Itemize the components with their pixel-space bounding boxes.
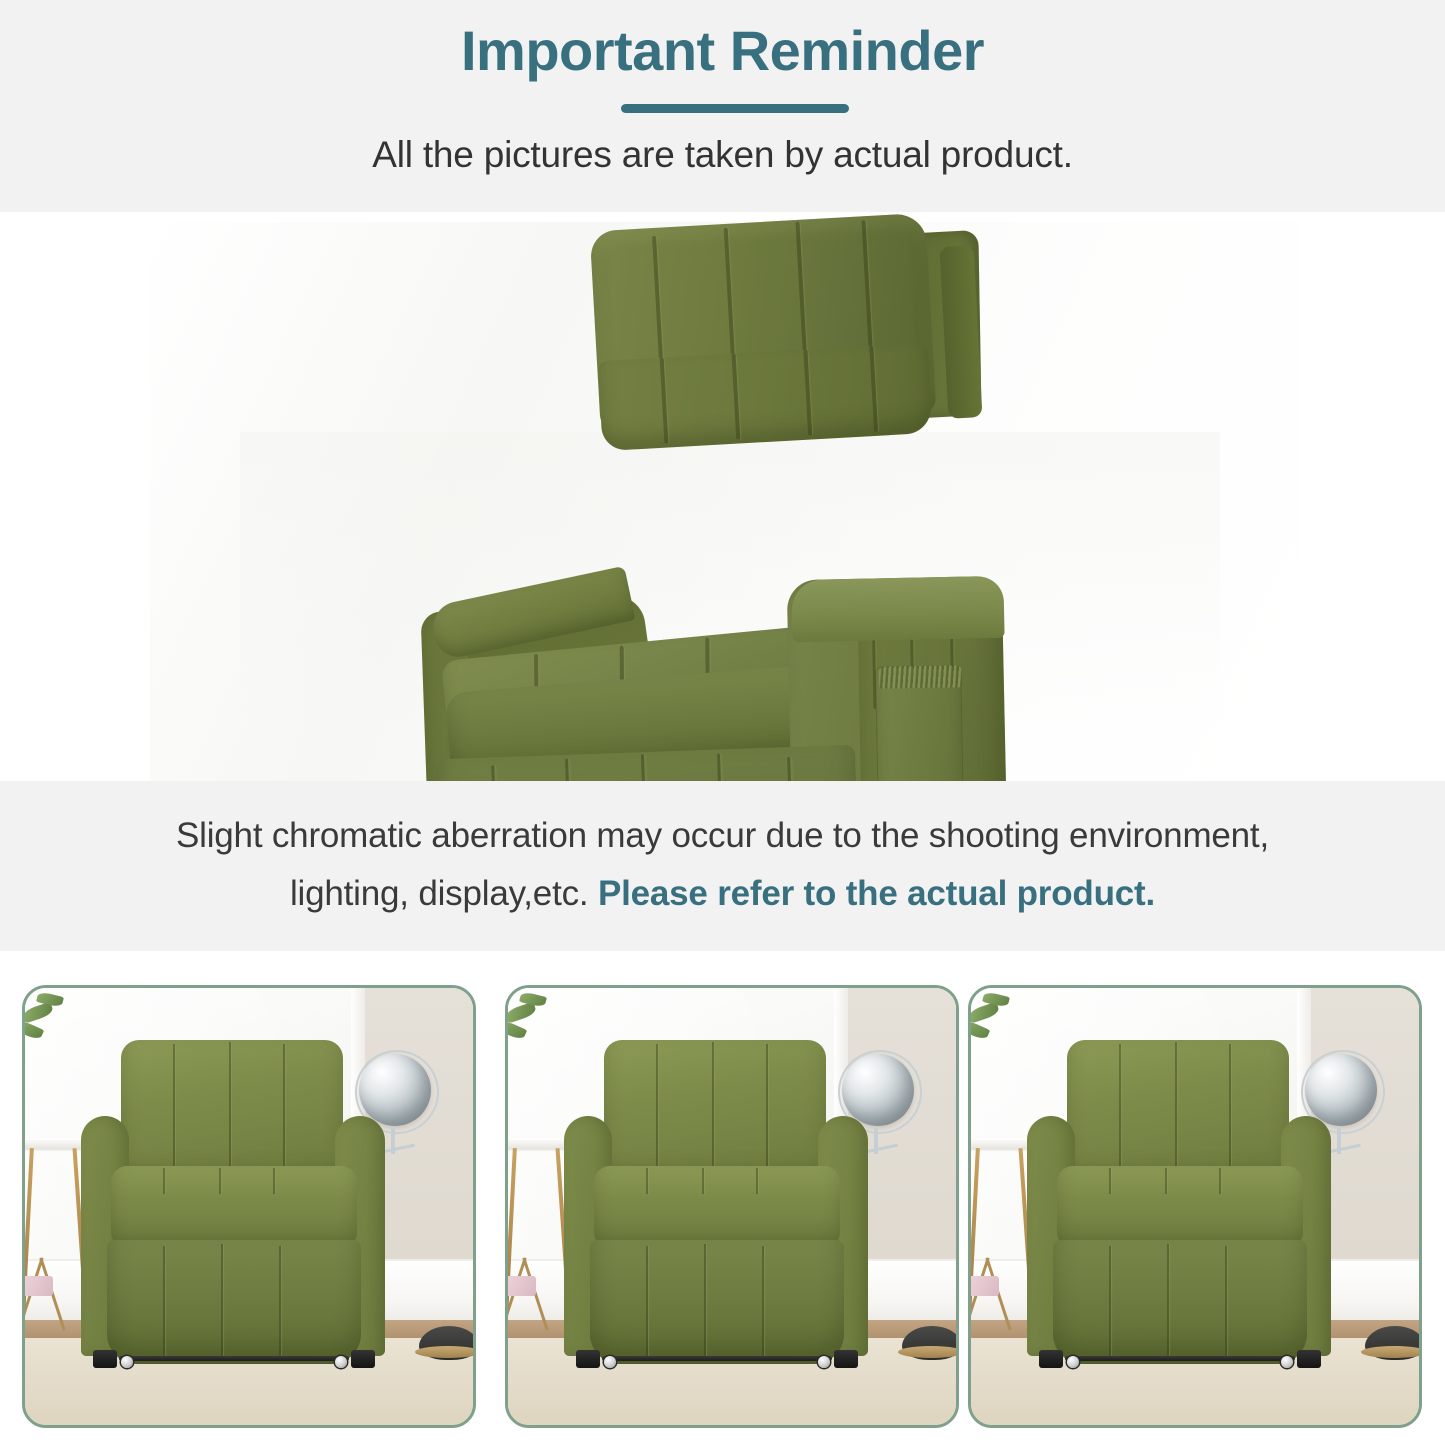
- thumb-backrest: [121, 1040, 343, 1180]
- page-subtitle: All the pictures are taken by actual pro…: [0, 134, 1445, 176]
- thumb-base-skirt: [1053, 1240, 1307, 1364]
- magazine-rack-item: [968, 1276, 999, 1296]
- thumb-caster: [335, 1356, 347, 1368]
- stool-rim: [898, 1346, 959, 1358]
- base-channel-seam: [491, 765, 500, 781]
- chair-right-arm-top: [791, 576, 1004, 642]
- base-channel-seam: [787, 757, 795, 781]
- thumbnail-1[interactable]: [22, 985, 476, 1428]
- title-divider: [621, 104, 849, 113]
- plant-decor: [505, 990, 584, 1060]
- backrest-seam: [660, 358, 669, 444]
- thumb-foot-right: [834, 1350, 858, 1368]
- thumb-seat-cushion: [1057, 1166, 1303, 1250]
- thumb-base-skirt: [590, 1240, 844, 1364]
- magazine-rack-item: [505, 1276, 536, 1296]
- thumb-seat-cushion: [594, 1166, 840, 1250]
- room-scene: [25, 988, 473, 1425]
- thumb-caster: [121, 1356, 133, 1368]
- thumb-foot-left: [1039, 1350, 1063, 1368]
- backrest-seam: [869, 346, 878, 432]
- room-scene: [508, 988, 956, 1425]
- chair-backrest-lower: [598, 343, 933, 451]
- thumb-caster: [1281, 1356, 1293, 1368]
- thumbnail-row: [0, 985, 1445, 1425]
- thumb-caster: [818, 1356, 830, 1368]
- backrest-seam: [803, 350, 812, 436]
- magazine-rack-item: [22, 1276, 53, 1296]
- thumb-foot-left: [576, 1350, 600, 1368]
- disclaimer-line-2-plain: lighting, display,etc.: [290, 874, 598, 913]
- disclaimer-line-2-accent: Please refer to the actual product.: [598, 874, 1155, 913]
- thumb-backrest: [1067, 1040, 1289, 1180]
- thumbnail-3[interactable]: [968, 985, 1422, 1428]
- thumb-frame-bar: [1065, 1356, 1295, 1361]
- stool-rim: [415, 1346, 476, 1358]
- plant-decor: [968, 990, 1047, 1060]
- header-band: Important Reminder All the pictures are …: [0, 0, 1445, 212]
- thumb-foot-right: [1297, 1350, 1321, 1368]
- thumb-backrest: [604, 1040, 826, 1180]
- base-channel-seam: [641, 754, 650, 781]
- disclaimer-band: Slight chromatic aberration may occur du…: [0, 781, 1445, 951]
- thumb-seat-cushion: [111, 1166, 357, 1250]
- thumb-foot-left: [93, 1350, 117, 1368]
- thumb-base-skirt: [107, 1240, 361, 1364]
- disclaimer-line-1: Slight chromatic aberration may occur du…: [176, 816, 1269, 855]
- page-title: Important Reminder: [0, 18, 1445, 83]
- base-channel-seam: [717, 753, 726, 781]
- stool-rim: [1361, 1346, 1422, 1358]
- thumb-frame-bar: [119, 1356, 349, 1361]
- backrest-seam: [732, 354, 741, 440]
- base-channel-seam: [565, 759, 574, 781]
- thumb-caster: [604, 1356, 616, 1368]
- thumb-caster: [1067, 1356, 1079, 1368]
- plant-decor: [22, 990, 101, 1060]
- thumbnail-2[interactable]: [505, 985, 959, 1428]
- room-scene: [971, 988, 1419, 1425]
- promo-image-root: Important Reminder All the pictures are …: [0, 0, 1445, 1445]
- thumb-frame-bar: [602, 1356, 832, 1361]
- product-armchair: [0, 212, 1445, 781]
- pocket-elastic-band: [879, 665, 962, 688]
- thumb-foot-right: [351, 1350, 375, 1368]
- disclaimer-text: Slight chromatic aberration may occur du…: [50, 807, 1395, 923]
- hero-product-photo: [0, 212, 1445, 781]
